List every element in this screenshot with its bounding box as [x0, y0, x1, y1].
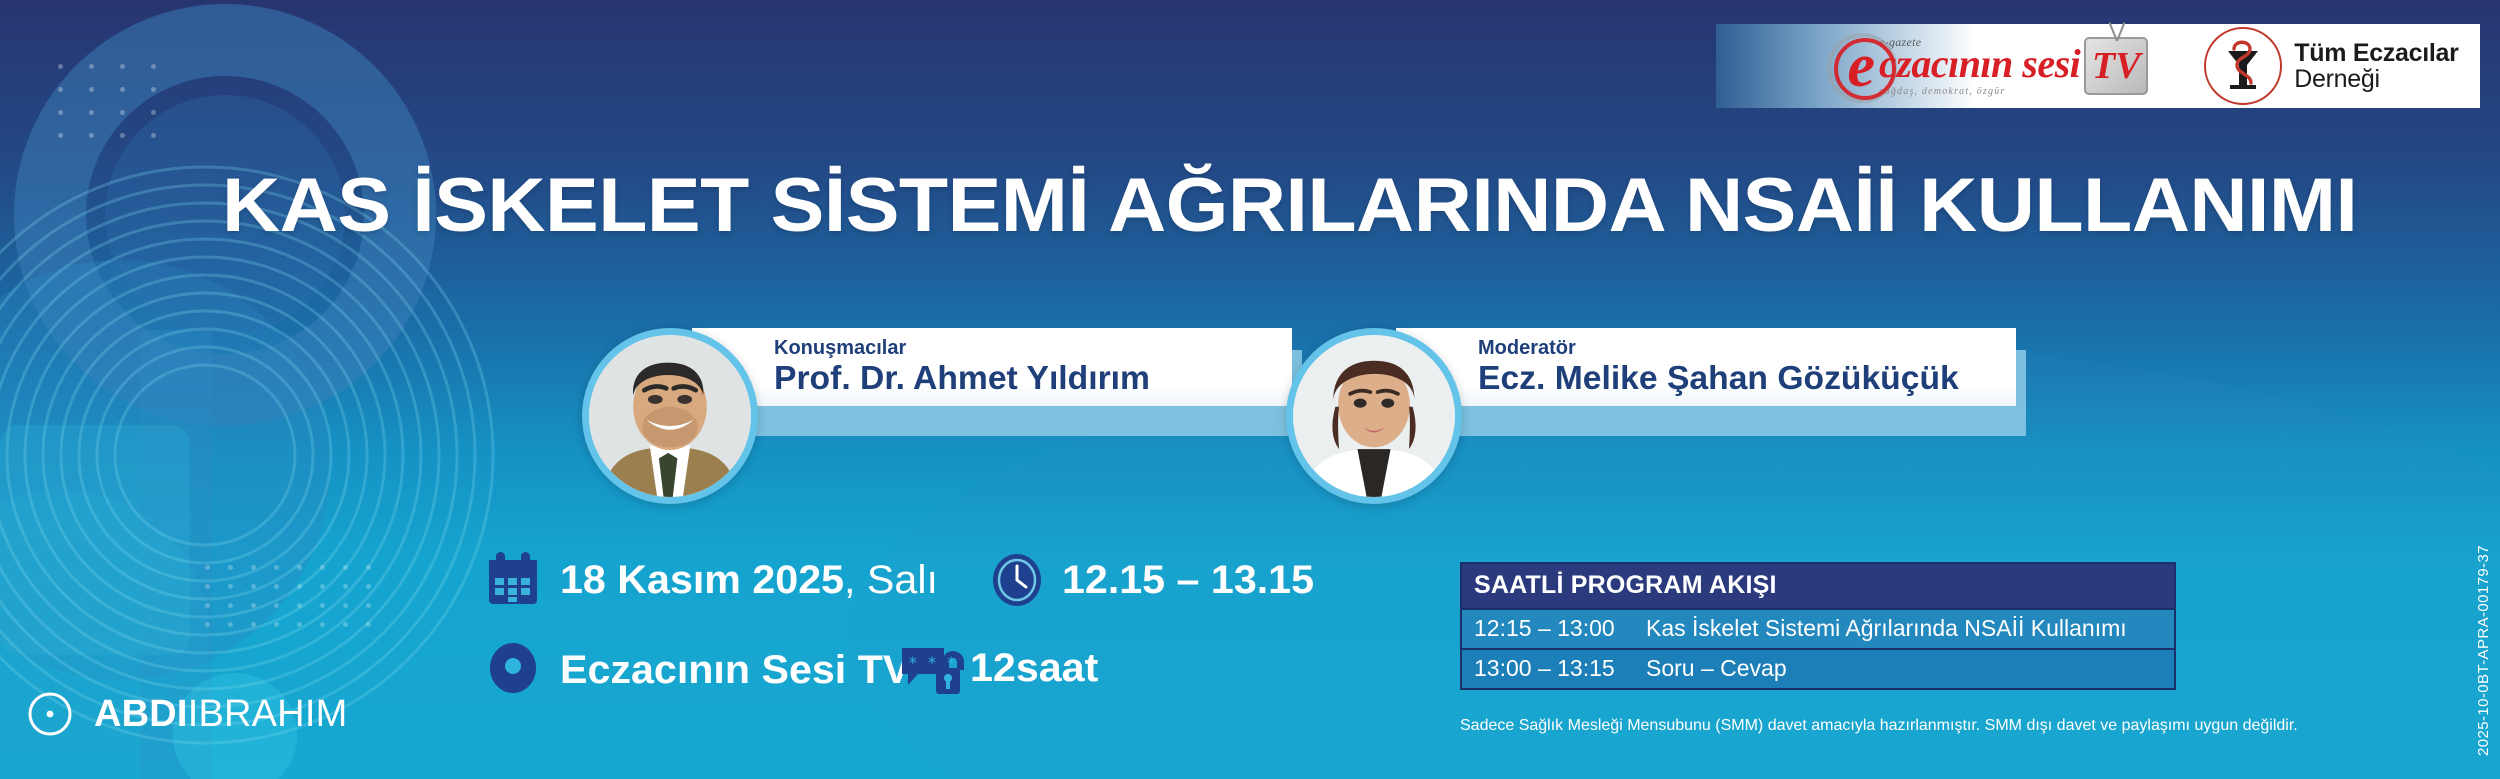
bowl-of-hygieia-icon — [2204, 27, 2282, 105]
avatar — [582, 328, 758, 504]
program-topic: Soru – Cevap — [1646, 655, 2162, 682]
speaker-plate: Konuşmacılar Prof. Dr. Ahmet Yıldırım — [692, 328, 1292, 406]
info-place: Eczacının Sesi TV — [486, 642, 900, 698]
dot-grid-lower — [205, 565, 371, 627]
program-row: 12:15 – 13:00 Kas İskelet Sistemi Ağrıla… — [1462, 608, 2174, 648]
program-header: SAATLİ PROGRAM AKIŞI — [1462, 564, 2174, 608]
info-time: 12.15 – 13.15 — [990, 552, 1307, 608]
speaker-card-2: Moderatör Ecz. Melike Şahan Gözüküçük — [1286, 328, 2016, 406]
location-pin-icon — [486, 642, 540, 698]
dernegi-line-2: Derneği — [2294, 66, 2458, 92]
moderator-name: Ecz. Melike Şahan Gözüküçük — [1478, 361, 2012, 396]
logo-tv-text: TV — [2092, 44, 2141, 88]
moderator-role: Moderatör — [1478, 337, 2002, 359]
page-title: KAS İSKELET SİSTEMİ AĞRILARINDA NSAİİ KU… — [222, 168, 2406, 244]
dernegi-line-1: Tüm Eczacılar — [2294, 40, 2458, 66]
logo-letter-e: e — [1847, 35, 1875, 97]
disclaimer-text: Sadece Sağlık Mesleği Mensubunu (SMM) da… — [1460, 716, 2320, 735]
time-text: 12.15 – 13.15 — [1062, 560, 1314, 600]
clock-icon — [990, 552, 1044, 608]
calendar-icon — [486, 552, 540, 608]
reference-code: 2025-10-0BT-APRA-00179-37 — [2475, 545, 2492, 756]
program-row: 13:00 – 13:15 Soru – Cevap — [1462, 648, 2174, 688]
dot-grid-top — [58, 64, 156, 138]
logo-wordmark: czacının sesi — [1879, 44, 2080, 84]
abdi-ibrahim-brand: ABDIIBRAHIM — [28, 692, 347, 736]
svg-text:* * *: * * * — [908, 653, 956, 672]
place-text: Eczacının Sesi TV — [560, 650, 910, 690]
logo-tagline: çağdaş, demokrat, özgür — [1879, 87, 2080, 97]
brand-light: IBRAHIM — [188, 693, 348, 735]
date-text: 18 Kasım 2025, Salı — [560, 560, 938, 600]
avatar — [1286, 328, 1462, 504]
partner-logo-bar: e e-gazete czacının sesi çağdaş, demokra… — [1716, 24, 2480, 108]
brand-bold: ABDI — [94, 693, 188, 735]
brand-wordmark: ABDIIBRAHIM — [94, 695, 347, 733]
antenna-right-icon — [2116, 22, 2125, 41]
speaker-name: Prof. Dr. Ahmet Yıldırım — [774, 361, 1288, 396]
program-schedule: SAATLİ PROGRAM AKIŞI 12:15 – 13:00 Kas İ… — [1460, 562, 2176, 690]
moderator-plate: Moderatör Ecz. Melike Şahan Gözüküçük — [1396, 328, 2016, 406]
program-time: 12:15 – 13:00 — [1474, 615, 1646, 642]
webinar-banner: e e-gazete czacının sesi çağdaş, demokra… — [0, 0, 2500, 779]
abdi-ibrahim-logo-icon — [28, 692, 72, 736]
program-topic: Kas İskelet Sistemi Ağrılarında NSAİİ Ku… — [1646, 615, 2162, 642]
tum-eczacilar-dernegi-logo: Tüm Eczacılar Derneği — [2204, 27, 2458, 105]
info-date: 18 Kasım 2025, Salı — [486, 552, 927, 608]
password-lock-icon: * * * — [900, 640, 954, 696]
tv-set-icon: TV — [2084, 37, 2148, 95]
date-bold: 18 Kasım 2025 — [560, 558, 844, 602]
speaker-role: Konuşmacılar — [774, 337, 1278, 359]
eczacinin-sesi-tv-logo: e e-gazete czacının sesi çağdaş, demokra… — [1847, 35, 2148, 97]
speaker-card-1: Konuşmacılar Prof. Dr. Ahmet Yıldırım — [582, 328, 1292, 406]
info-duration: * * * 12saat — [900, 640, 1095, 696]
date-light: , Salı — [844, 558, 938, 602]
program-time: 13:00 – 13:15 — [1474, 655, 1646, 682]
duration-text: 12saat — [970, 648, 1098, 688]
